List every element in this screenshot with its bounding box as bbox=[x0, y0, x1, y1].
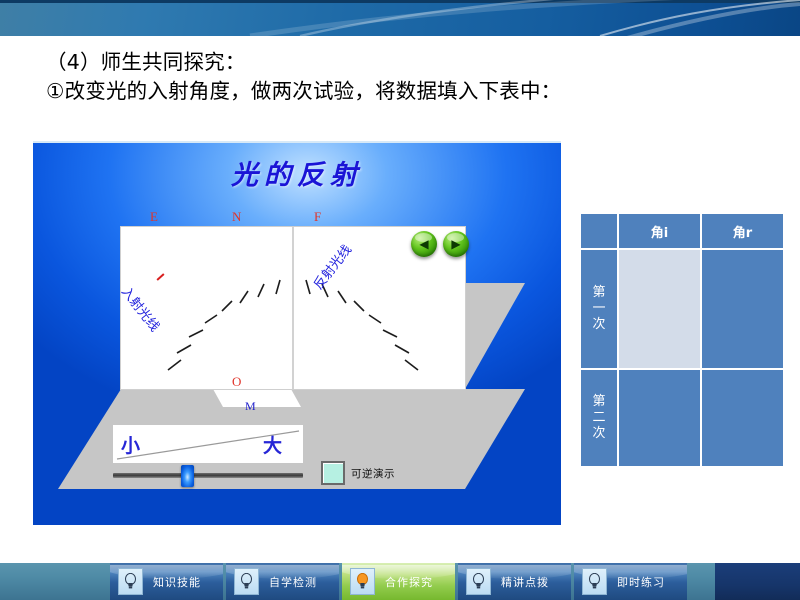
row-label-char: 一 bbox=[581, 301, 617, 317]
lightbulb-icon bbox=[582, 568, 607, 595]
nav-button-instant-practice[interactable]: 即时练习 bbox=[574, 563, 687, 600]
scale-label-large: 大 bbox=[263, 431, 282, 458]
reflection-animation-panel[interactable]: 光的反射 bbox=[33, 141, 561, 525]
row-label-char: 次 bbox=[581, 317, 617, 333]
cell-trial2-angle-r[interactable] bbox=[702, 370, 783, 466]
row-label-char: 二 bbox=[581, 410, 617, 426]
lightbulb-icon bbox=[466, 568, 491, 595]
nav-button-self-study-test[interactable]: 自学检测 bbox=[226, 563, 339, 600]
bottom-bar-right-cap bbox=[715, 563, 800, 600]
label-F: F bbox=[314, 209, 321, 225]
label-N: N bbox=[232, 209, 241, 225]
heading-line-1: （4）师生共同探究： bbox=[46, 48, 766, 77]
nav-label: 精讲点拨 bbox=[501, 574, 549, 590]
nav-button-knowledge-skills[interactable]: 知识技能 bbox=[110, 563, 223, 600]
lightbulb-icon-lit bbox=[350, 568, 375, 595]
table-corner-cell bbox=[581, 214, 617, 248]
slide-heading: （4）师生共同探究： ①改变光的入射角度，做两次试验，将数据填入下表中： bbox=[46, 48, 766, 106]
reversible-demo-label: 可逆演示 bbox=[351, 466, 395, 481]
next-step-button[interactable]: ▶ bbox=[443, 231, 469, 257]
bottom-navigation-bar: 知识技能 自学检测 合作探究 bbox=[0, 563, 800, 600]
row-label-char: 第 bbox=[581, 285, 617, 301]
scale-label-small: 小 bbox=[121, 431, 140, 458]
table-header-angle-i: 角i bbox=[619, 214, 700, 248]
nav-label: 即时练习 bbox=[617, 574, 665, 590]
lightbulb-glyph bbox=[124, 573, 137, 590]
lightbulb-icon bbox=[234, 568, 259, 595]
row-label-first-trial: 第 一 次 bbox=[581, 250, 617, 368]
nav-label: 知识技能 bbox=[153, 574, 201, 590]
label-E: E bbox=[150, 209, 158, 225]
table-header-angle-r: 角r bbox=[702, 214, 783, 248]
label-M: M bbox=[245, 399, 256, 414]
nav-button-cooperative-inquiry[interactable]: 合作探究 bbox=[342, 563, 455, 600]
lightbulb-glyph bbox=[472, 573, 485, 590]
lightbulb-icon bbox=[118, 568, 143, 595]
nav-label: 自学检测 bbox=[269, 574, 317, 590]
animation-step-controls[interactable]: ◀ ▶ bbox=[411, 231, 469, 257]
lightbulb-glyph bbox=[588, 573, 601, 590]
reversible-demo-checkbox-group[interactable]: 可逆演示 bbox=[321, 461, 395, 485]
nav-button-intensive-explanation[interactable]: 精讲点拨 bbox=[458, 563, 571, 600]
reversible-demo-checkbox[interactable] bbox=[321, 461, 345, 485]
top-banner bbox=[0, 0, 800, 36]
row-label-char: 第 bbox=[581, 394, 617, 410]
lightbulb-glyph bbox=[240, 573, 253, 590]
lightbulb-glyph-lit bbox=[356, 573, 369, 590]
arrow-right-icon: ▶ bbox=[451, 238, 460, 250]
cell-trial1-angle-i[interactable] bbox=[619, 250, 700, 368]
label-O: O bbox=[232, 374, 241, 390]
experiment-data-table: 角i 角r 第 一 次 第 二 次 bbox=[579, 212, 785, 468]
banner-swoosh-decoration bbox=[0, 0, 800, 36]
cell-trial2-angle-i[interactable] bbox=[619, 370, 700, 466]
nav-label: 合作探究 bbox=[385, 574, 433, 590]
table-header-row: 角i 角r bbox=[581, 214, 783, 248]
row-label-char: 次 bbox=[581, 426, 617, 442]
arrow-left-icon: ◀ bbox=[419, 238, 428, 250]
angle-slider-track[interactable] bbox=[113, 473, 303, 478]
cell-trial1-angle-r[interactable] bbox=[702, 250, 783, 368]
animation-title: 光的反射 bbox=[33, 153, 561, 192]
heading-line-2: ①改变光的入射角度，做两次试验，将数据填入下表中： bbox=[46, 77, 766, 106]
table-row: 第 一 次 bbox=[581, 250, 783, 368]
angle-slider-thumb[interactable] bbox=[181, 465, 194, 487]
table-row: 第 二 次 bbox=[581, 370, 783, 466]
row-label-second-trial: 第 二 次 bbox=[581, 370, 617, 466]
previous-step-button[interactable]: ◀ bbox=[411, 231, 437, 257]
